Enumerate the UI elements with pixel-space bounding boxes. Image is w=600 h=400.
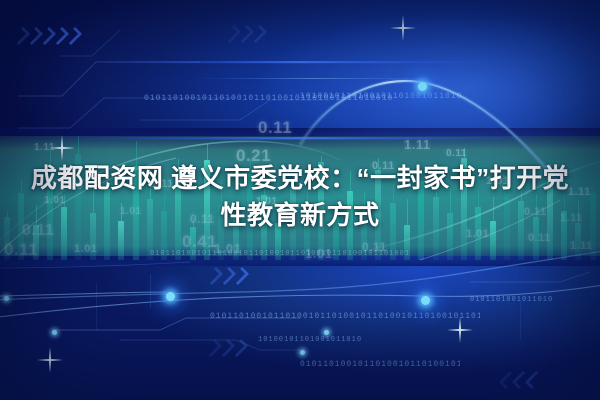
- overlay-number: 0.11: [4, 240, 38, 260]
- binary-digit-row: 0101101001011010010110100101101001011010…: [210, 312, 480, 321]
- chevron-arrow-group: [209, 268, 245, 284]
- glow-node-icon: [4, 296, 9, 301]
- binary-digit-row: 1010010110100101101001011010: [300, 92, 470, 101]
- binary-digit-row: 0101101001011010: [470, 296, 570, 304]
- overlay-number: 1.01: [74, 243, 97, 255]
- chevron-arrow-group: [208, 340, 244, 356]
- glow-node-icon: [421, 296, 430, 305]
- banner-headline: 成都配资网 遵义市委党校：“一封家书”打开党 性教育新方式: [0, 160, 600, 234]
- chevron-arrow-group: [227, 26, 263, 42]
- chart-bar-wick: [78, 136, 79, 154]
- headline-line-1: 成都配资网 遵义市委党校：“一封家书”打开党: [31, 163, 569, 193]
- overlay-number: 0.11: [258, 118, 292, 138]
- binary-digit-row: 10100101101001011010: [258, 336, 378, 344]
- chart-bar-wick: [207, 144, 208, 160]
- chevron-arrow-group: [503, 372, 539, 388]
- glow-node-icon: [324, 330, 329, 335]
- overlay-number: 0.11: [446, 148, 467, 159]
- chevron-arrow-group: [16, 28, 78, 44]
- overlay-number: 1.01: [305, 246, 332, 261]
- banner-image: 0101101001011010010110100101101001011010…: [0, 0, 600, 400]
- binary-digit-row: 0101101001011010010110100101: [300, 360, 460, 369]
- glow-node-icon: [166, 292, 175, 301]
- sparkle-icon: [49, 135, 75, 161]
- overlay-number: 1.11: [570, 240, 593, 252]
- sparkle-icon: [447, 317, 473, 343]
- glow-node-icon: [300, 350, 305, 355]
- sparkle-icon: [390, 15, 416, 41]
- glow-node-icon: [418, 82, 427, 91]
- overlay-number: 0.11: [362, 240, 387, 254]
- glow-node-icon: [52, 330, 57, 335]
- headline-line-2: 性教育新方式: [0, 197, 600, 234]
- overlay-number: 1.11: [404, 137, 431, 152]
- overlay-number: 1.01: [214, 241, 241, 256]
- sparkle-icon: [37, 347, 63, 373]
- background-top-gradient: [0, 0, 600, 150]
- overlay-number: 0.41: [182, 232, 217, 252]
